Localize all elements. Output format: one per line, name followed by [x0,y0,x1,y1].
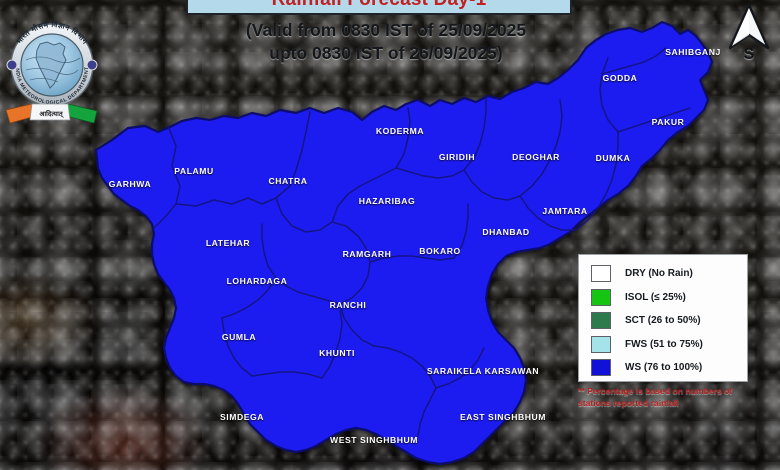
rainfall-forecast-screenshot: GARHWA PALAMU CHATRA KODERMA GIRIDIH DEO… [0,0,780,470]
legend-label-dry: DRY (No Rain) [625,268,693,279]
legend-swatch-isol [591,289,611,306]
legend-row-dry: DRY (No Rain) [591,262,747,286]
validity-line-2: upto 0830 IST of 26/09/2025) [186,42,586,65]
legend-label-ws: WS (76 to 100%) [625,362,702,373]
legend-row-fws: FWS (51 to 75%) [591,333,747,357]
compass-label: S [724,46,774,64]
legend-row-sct: SCT (26 to 50%) [591,309,747,333]
page-title: Rainfall Forecast Day-1 [272,0,487,11]
legend-swatch-fws [591,336,611,353]
legend-row-ws: WS (76 to 100%) [591,356,747,380]
forecast-title-card: Rainfall Forecast Day-1 [186,0,572,15]
legend-label-fws: FWS (51 to 75%) [625,339,703,350]
rainfall-legend: DRY (No Rain) ISOL (≤ 25%) SCT (26 to 50… [578,254,748,382]
imd-logo-svg: भारत मौसम विज्ञान विभाग INDIA METEOROLOG… [2,16,102,134]
validity-period: (Valid from 0830 IST of 25/09/2025 upto … [186,19,586,66]
imd-logo-motto: आदित्यात् [39,109,64,118]
legend-label-sct: SCT (26 to 50%) [625,315,701,326]
imd-logo: भारत मौसम विज्ञान विभाग INDIA METEOROLOG… [2,16,102,134]
north-arrow-icon [724,2,774,52]
validity-line-1: (Valid from 0830 IST of 25/09/2025 [186,19,586,42]
legend-swatch-ws [591,359,611,376]
legend-swatch-sct [591,312,611,329]
legend-swatch-dry [591,265,611,282]
legend-label-isol: ISOL (≤ 25%) [625,292,686,303]
compass-north-arrow: S [724,2,774,74]
legend-row-isol: ISOL (≤ 25%) [591,286,747,310]
legend-footnote: ** Percentage is based on numbers of sta… [578,385,756,409]
